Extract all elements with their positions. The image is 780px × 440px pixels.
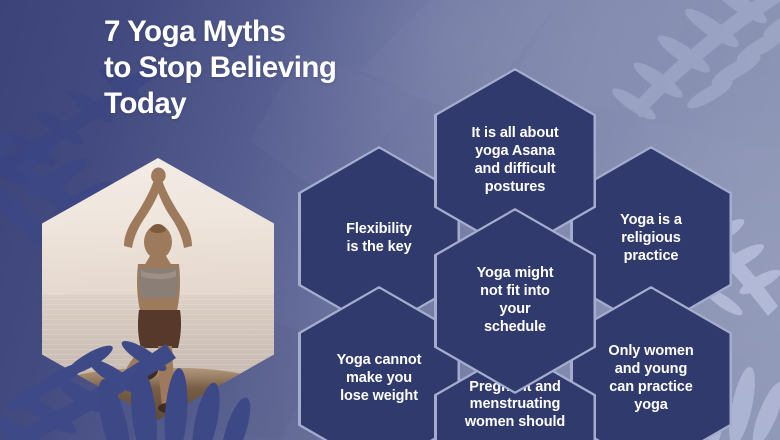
page-title: 7 Yoga Myths to Stop Believing Today bbox=[104, 14, 464, 122]
infographic-canvas: Flexibility is the key It is all about y… bbox=[0, 0, 780, 440]
myth-label: Yoga might not fit into your schedule bbox=[477, 265, 554, 337]
myth-label: Yoga cannot make you lose weight bbox=[337, 352, 422, 406]
myth-label: Only women and young can practice yoga bbox=[608, 343, 693, 415]
myth-label: It is all about yoga Asana and difficult… bbox=[471, 125, 558, 197]
myth-label: Flexibility is the key bbox=[346, 221, 412, 257]
myth-label: Yoga is a religious practice bbox=[620, 212, 682, 266]
